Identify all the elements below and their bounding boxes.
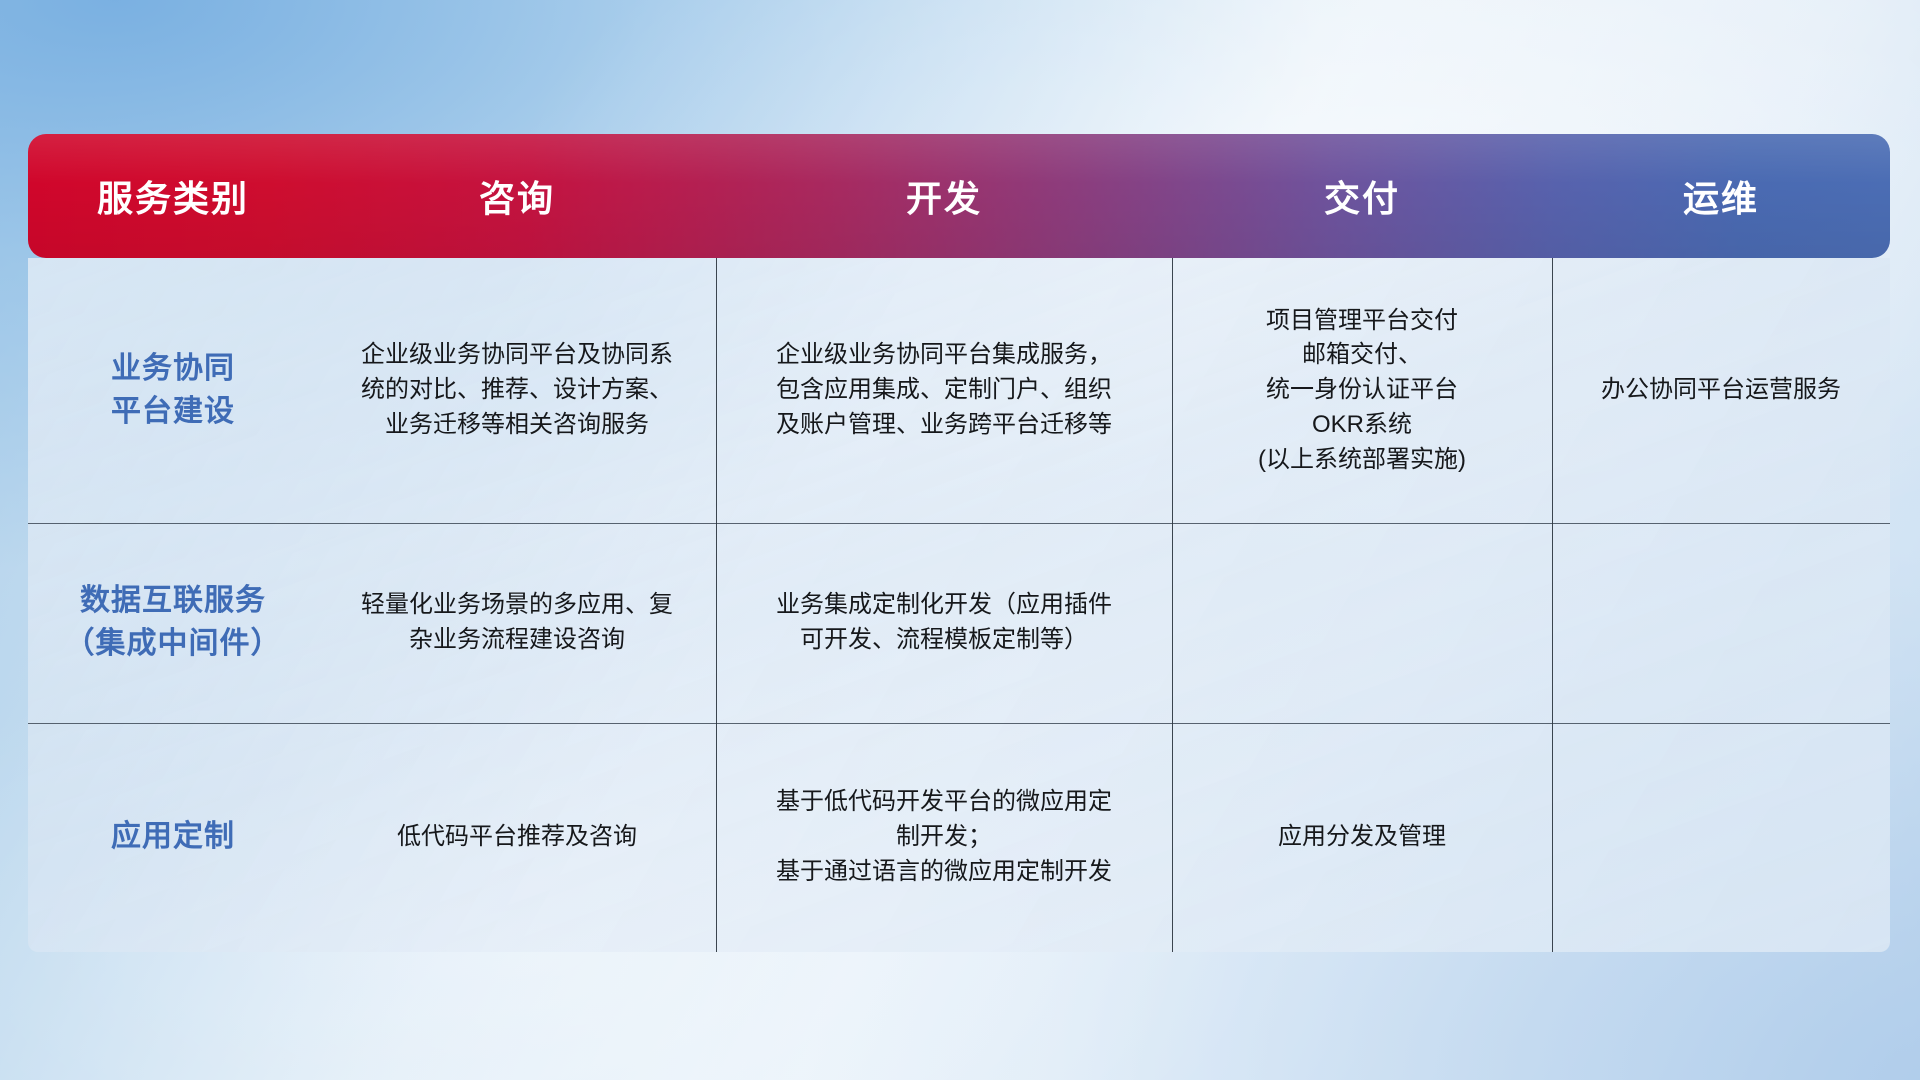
cell-operate bbox=[1552, 723, 1890, 952]
cell-operate bbox=[1552, 523, 1890, 723]
text-line: 平台建设 bbox=[111, 391, 235, 434]
cell-deliver: 应用分发及管理 bbox=[1172, 723, 1552, 952]
text-line: OKR系统 bbox=[1258, 408, 1466, 443]
cell-text: 轻量化业务场景的多应用、复杂业务流程建设咨询 bbox=[361, 588, 673, 658]
row-category-label: 数据互联服务（集成中间件） bbox=[28, 523, 318, 723]
category-text: 业务协同平台建设 bbox=[111, 348, 235, 433]
cell-text: 企业级业务协同平台及协同系统的对比、推荐、设计方案、业务迁移等相关咨询服务 bbox=[361, 338, 673, 442]
cell-develop: 企业级业务协同平台集成服务，包含应用集成、定制门户、组织及账户管理、业务跨平台迁… bbox=[716, 258, 1172, 523]
text-line: 数据互联服务 bbox=[65, 580, 282, 623]
cell-text: 办公协同平台运营服务 bbox=[1601, 373, 1841, 408]
text-line: 业务迁移等相关咨询服务 bbox=[361, 408, 673, 443]
text-line: 可开发、流程模板定制等） bbox=[776, 623, 1112, 658]
text-line: 业务协同 bbox=[111, 348, 235, 391]
text-line: 统一身份认证平台 bbox=[1258, 373, 1466, 408]
text-line: 企业级业务协同平台集成服务， bbox=[776, 338, 1112, 373]
cell-consult: 轻量化业务场景的多应用、复杂业务流程建设咨询 bbox=[318, 523, 716, 723]
table-header-row: 服务类别 咨询 开发 交付 运维 bbox=[28, 134, 1890, 258]
column-header-operate: 运维 bbox=[1552, 170, 1890, 222]
cell-consult: 企业级业务协同平台及协同系统的对比、推荐、设计方案、业务迁移等相关咨询服务 bbox=[318, 258, 716, 523]
text-line: （集成中间件） bbox=[65, 623, 282, 666]
table-row: 数据互联服务（集成中间件） 轻量化业务场景的多应用、复杂业务流程建设咨询 业务集… bbox=[28, 523, 1890, 723]
cell-text: 基于低代码开发平台的微应用定制开发；基于通过语言的微应用定制开发 bbox=[776, 785, 1112, 889]
table-row: 业务协同平台建设 企业级业务协同平台及协同系统的对比、推荐、设计方案、业务迁移等… bbox=[28, 258, 1890, 523]
text-line: 应用分发及管理 bbox=[1278, 820, 1446, 855]
row-category-label: 业务协同平台建设 bbox=[28, 258, 318, 523]
column-header-consult: 咨询 bbox=[318, 170, 716, 222]
row-category-label: 应用定制 bbox=[28, 723, 318, 952]
text-line: 包含应用集成、定制门户、组织 bbox=[776, 373, 1112, 408]
text-line: 统的对比、推荐、设计方案、 bbox=[361, 373, 673, 408]
cell-text: 企业级业务协同平台集成服务，包含应用集成、定制门户、组织及账户管理、业务跨平台迁… bbox=[776, 338, 1112, 442]
text-line: 邮箱交付、 bbox=[1258, 338, 1466, 373]
cell-consult: 低代码平台推荐及咨询 bbox=[318, 723, 716, 952]
text-line: 办公协同平台运营服务 bbox=[1601, 373, 1841, 408]
cell-operate: 办公协同平台运营服务 bbox=[1552, 258, 1890, 523]
text-line: 低代码平台推荐及咨询 bbox=[397, 820, 637, 855]
cell-text: 低代码平台推荐及咨询 bbox=[397, 820, 637, 855]
text-line: 杂业务流程建设咨询 bbox=[361, 623, 673, 658]
cell-deliver: 项目管理平台交付邮箱交付、统一身份认证平台OKR系统(以上系统部署实施) bbox=[1172, 258, 1552, 523]
service-category-table: 服务类别 咨询 开发 交付 运维 业务协同平台建设 企业级业务协同平台及协同系统… bbox=[28, 134, 1890, 952]
text-line: 项目管理平台交付 bbox=[1258, 304, 1466, 339]
table-body: 业务协同平台建设 企业级业务协同平台及协同系统的对比、推荐、设计方案、业务迁移等… bbox=[28, 258, 1890, 952]
text-line: 基于通过语言的微应用定制开发 bbox=[776, 855, 1112, 890]
text-line: (以上系统部署实施) bbox=[1258, 443, 1466, 478]
text-line: 企业级业务协同平台及协同系 bbox=[361, 338, 673, 373]
cell-deliver bbox=[1172, 523, 1552, 723]
text-line: 及账户管理、业务跨平台迁移等 bbox=[776, 408, 1112, 443]
text-line: 业务集成定制化开发（应用插件 bbox=[776, 588, 1112, 623]
text-line: 制开发； bbox=[776, 820, 1112, 855]
category-text: 应用定制 bbox=[111, 816, 235, 859]
column-header-deliver: 交付 bbox=[1172, 170, 1552, 222]
text-line: 轻量化业务场景的多应用、复 bbox=[361, 588, 673, 623]
column-header-category: 服务类别 bbox=[28, 170, 318, 222]
cell-text: 应用分发及管理 bbox=[1278, 820, 1446, 855]
table-row: 应用定制 低代码平台推荐及咨询 基于低代码开发平台的微应用定制开发；基于通过语言… bbox=[28, 723, 1890, 952]
column-header-develop: 开发 bbox=[716, 170, 1172, 222]
cell-develop: 基于低代码开发平台的微应用定制开发；基于通过语言的微应用定制开发 bbox=[716, 723, 1172, 952]
text-line: 应用定制 bbox=[111, 816, 235, 859]
cell-develop: 业务集成定制化开发（应用插件可开发、流程模板定制等） bbox=[716, 523, 1172, 723]
cell-text: 项目管理平台交付邮箱交付、统一身份认证平台OKR系统(以上系统部署实施) bbox=[1258, 304, 1466, 478]
cell-text: 业务集成定制化开发（应用插件可开发、流程模板定制等） bbox=[776, 588, 1112, 658]
category-text: 数据互联服务（集成中间件） bbox=[65, 580, 282, 665]
text-line: 基于低代码开发平台的微应用定 bbox=[776, 785, 1112, 820]
